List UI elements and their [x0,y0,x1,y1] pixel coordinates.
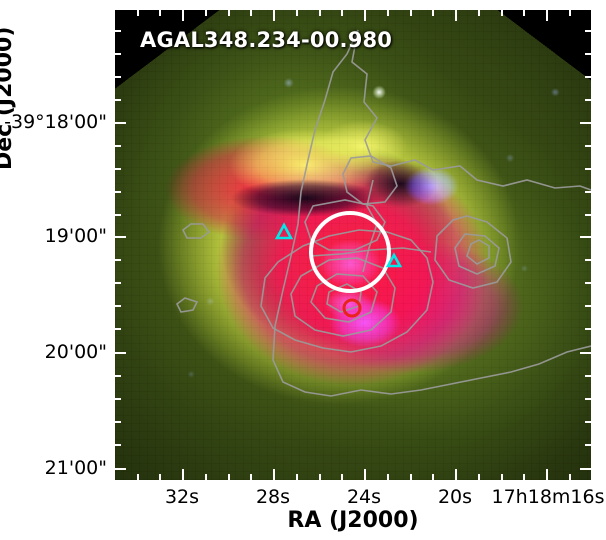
y-tick-label-2: 20'00" [2,341,107,363]
cyan-triangle-west[interactable] [277,225,291,238]
x-axis-label: RA (J2000) [287,508,418,533]
y-axis-label: Dec (J2000) [0,27,17,170]
overlay-markers [277,213,400,316]
source-title: AGAL348.234-00.980 [140,28,392,52]
x-tick-label-3: 20s [438,486,472,508]
y-tick-label-3: 21'00" [2,457,107,479]
contour-lines [177,30,591,396]
sky-image-panel[interactable]: AGAL348.234-00.980 [115,10,591,480]
x-tick-label-4: 17h18m16s [492,486,605,508]
y-tick-label-0: -39°18'00" [2,111,107,133]
y-tick-label-1: 19'00" [2,225,107,247]
astronomical-figure: AGAL348.234-00.980 [0,0,606,540]
x-tick-label-1: 28s [256,486,290,508]
x-tick-label-2: 24s [347,486,381,508]
x-tick-label-0: 32s [165,486,199,508]
contour-marker-overlay [115,10,591,480]
